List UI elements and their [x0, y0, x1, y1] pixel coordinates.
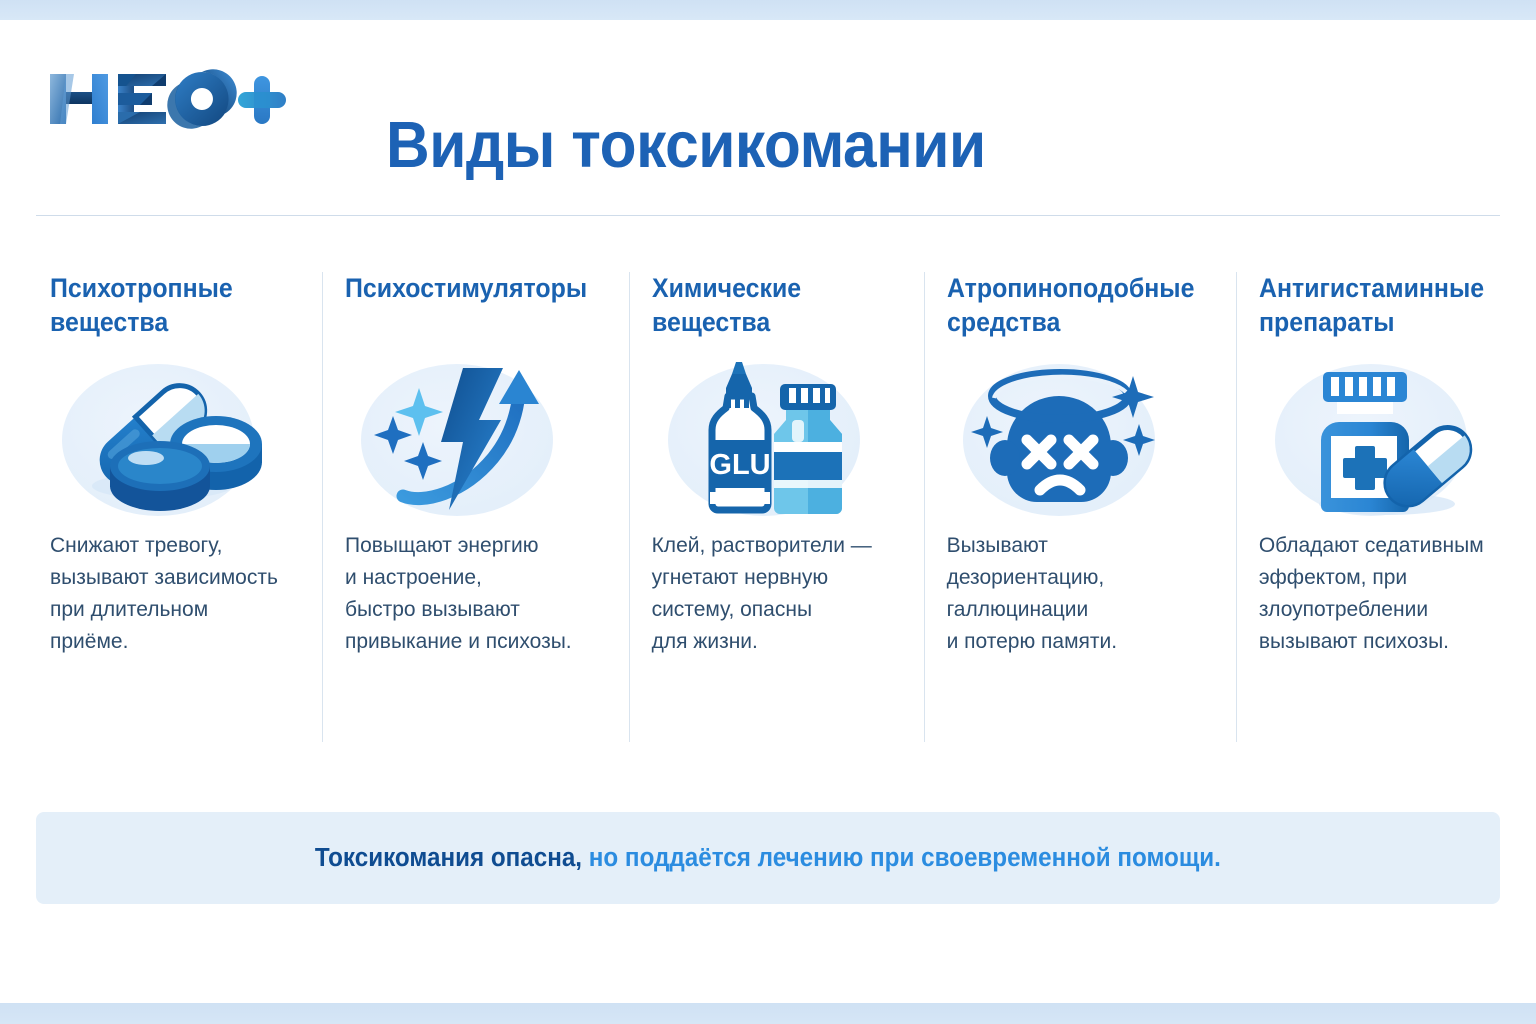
footer-banner: Токсикомания опасна, но поддаётся лечени…	[36, 812, 1500, 904]
column-atropine-like: Атропиноподобные средства	[924, 272, 1236, 742]
column-title: Атропиноподобные средства	[947, 272, 1194, 350]
column-description: Вызывают дезориентацию, галлюцинации и п…	[947, 530, 1210, 658]
banner-rest-text: но поддаётся лечению при своевременной п…	[582, 844, 1221, 872]
column-description: Клей, растворители — угнетают нервную си…	[652, 530, 898, 658]
banner-text: Токсикомания опасна, но поддаётся лечени…	[315, 844, 1221, 873]
dizzy-face-icon	[947, 354, 1210, 530]
infographic-poster: Виды токсикомании Психотропные вещества	[0, 0, 1536, 1024]
category-columns: Психотропные вещества	[36, 272, 1500, 742]
glue-solvent-bottles-icon: GLU	[652, 354, 898, 530]
poster-header: Виды токсикомании	[0, 20, 1536, 196]
column-description: Снижают тревогу, вызывают зависимость пр…	[50, 530, 296, 658]
column-title: Психостимуляторы	[345, 272, 587, 350]
header-divider	[36, 215, 1500, 216]
lightning-bolt-arrow-icon	[345, 354, 603, 530]
neo-plus-logo	[48, 62, 288, 136]
column-title: Химические вещества	[652, 272, 883, 350]
column-antihistamines: Антигистаминные препараты	[1236, 272, 1531, 742]
pill-bottle-capsule-icon	[1259, 354, 1505, 530]
page-title: Виды токсикомании	[386, 112, 986, 177]
column-description: Повыщают энергию и настроение, быстро вы…	[345, 530, 603, 658]
column-title: Антигистаминные препараты	[1259, 272, 1490, 350]
column-chemicals: Химические вещества	[629, 272, 924, 742]
banner-strong-text: Токсикомания опасна,	[315, 844, 582, 872]
bottom-decorative-band	[0, 1003, 1536, 1024]
column-psychostimulants: Психостимуляторы	[322, 272, 629, 742]
pills-capsule-icon	[50, 354, 296, 530]
glue-label: GLU	[709, 449, 770, 481]
column-psychotropic: Психотропные вещества	[36, 272, 322, 742]
column-description: Обладают седативным эффектом, при злоупо…	[1259, 530, 1505, 658]
top-decorative-band	[0, 0, 1536, 20]
column-title: Психотропные вещества	[50, 272, 281, 350]
